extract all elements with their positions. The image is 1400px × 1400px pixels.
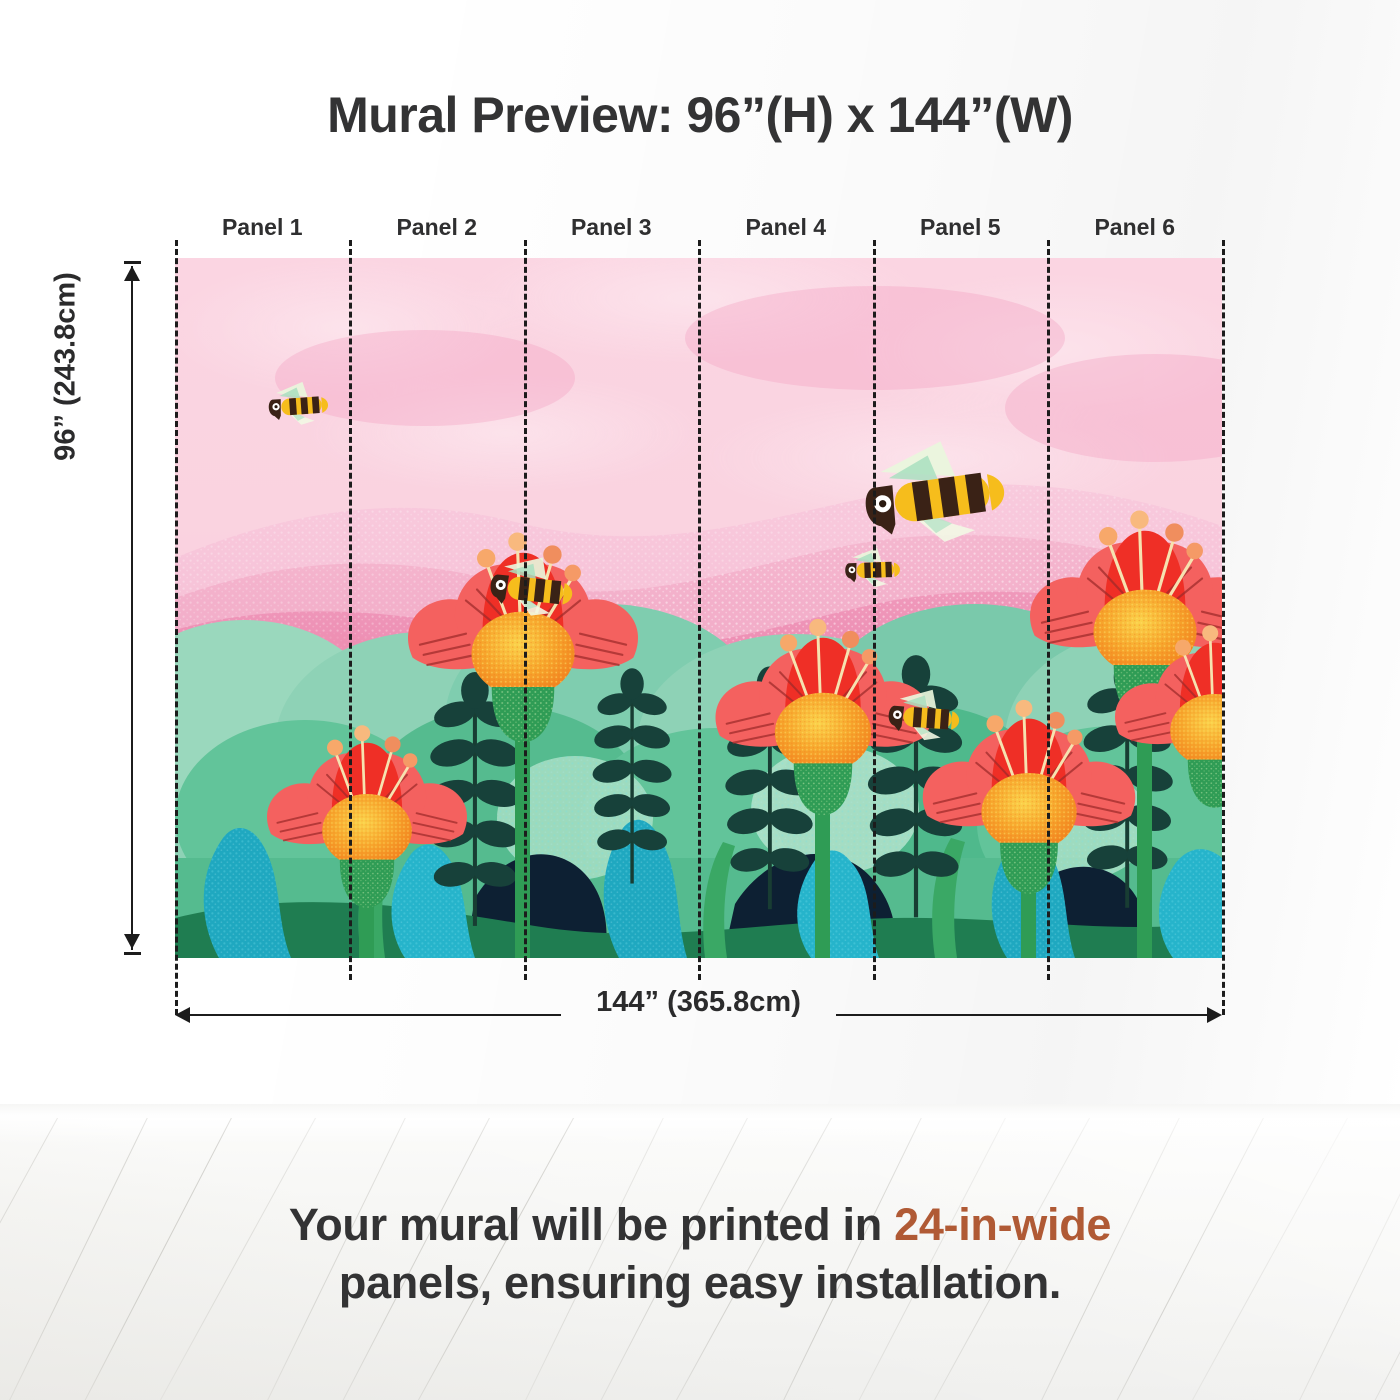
- width-dimension-arrow: 144” (365.8cm): [175, 1005, 1222, 1027]
- panel-label-6: Panel 6: [1048, 214, 1223, 248]
- panel-divider-2: [524, 240, 527, 980]
- caption: Your mural will be printed in 24-in-wide…: [90, 1196, 1310, 1311]
- panel-label-2: Panel 2: [350, 214, 525, 248]
- height-dimension-label: 96” (243.8cm): [50, 237, 83, 497]
- panel-divider-5: [1047, 240, 1050, 980]
- height-dimension-arrow: [122, 258, 142, 958]
- height-arrowhead-top: [124, 266, 140, 281]
- mural-right-edge: [1222, 240, 1225, 1015]
- caption-line2: panels, ensuring easy installation.: [339, 1257, 1061, 1308]
- panel-label-5: Panel 5: [873, 214, 1048, 248]
- panel-divider-1: [349, 240, 352, 980]
- height-cap-top: [124, 261, 141, 264]
- mural-left-edge: [175, 240, 178, 1015]
- mural-preview-screenshot: Mural Preview: 96”(H) x 144”(W) Panel 1 …: [0, 0, 1400, 1400]
- caption-accent: 24-in-wide: [894, 1199, 1111, 1250]
- width-dimension-label: 144” (365.8cm): [175, 986, 1222, 1019]
- page-title: Mural Preview: 96”(H) x 144”(W): [0, 86, 1400, 144]
- height-line: [131, 266, 133, 950]
- panel-label-3: Panel 3: [524, 214, 699, 248]
- height-cap-bottom: [124, 952, 141, 955]
- caption-line1-before: Your mural will be printed in: [289, 1199, 894, 1250]
- panel-divider-4: [873, 240, 876, 980]
- height-arrowhead-bottom: [124, 934, 140, 949]
- panel-divider-3: [698, 240, 701, 980]
- panel-label-4: Panel 4: [699, 214, 874, 248]
- panel-label-1: Panel 1: [175, 214, 350, 248]
